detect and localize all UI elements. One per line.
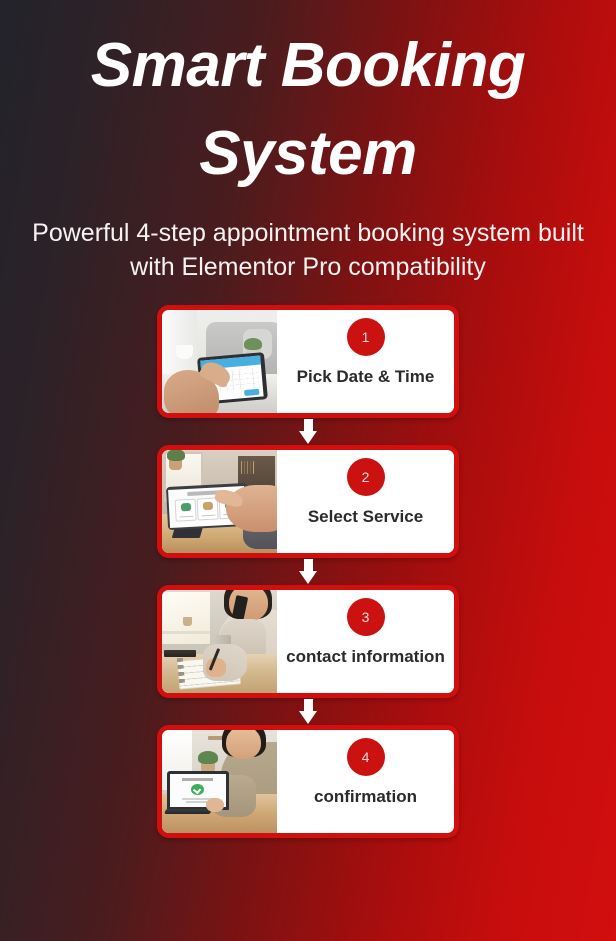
arrow-down-icon	[299, 559, 318, 584]
connector-2	[0, 558, 616, 585]
typing-hand	[206, 798, 224, 812]
arrow-down-icon	[299, 699, 318, 724]
step-body-2: 2 Select Service	[277, 450, 454, 553]
steps-flow: 1 Pick Date & Time	[0, 305, 616, 838]
step-row: 2 Select Service	[0, 445, 616, 558]
plant-leaves	[244, 338, 262, 350]
step-label-1: Pick Date & Time	[297, 367, 435, 387]
step-number-badge-4: 4	[347, 738, 385, 776]
connector-1	[0, 418, 616, 445]
plant-leaves	[198, 751, 219, 764]
step-label-4: confirmation	[314, 787, 417, 807]
step-row: 3 contact information	[0, 585, 616, 698]
step-row: 4 confirmation	[0, 725, 616, 838]
connector-3	[0, 698, 616, 725]
person-head	[226, 730, 261, 759]
step-thumbnail-4	[162, 730, 277, 833]
step-thumbnail-2	[162, 450, 277, 553]
window-sill	[162, 631, 210, 634]
page-title: Smart Booking System	[58, 22, 558, 198]
step-label-2: Select Service	[308, 507, 423, 527]
plant-leaves	[167, 450, 185, 461]
arrow-down-icon	[299, 419, 318, 444]
step-card-2[interactable]: 2 Select Service	[157, 445, 459, 558]
poster-header: Smart Booking System Powerful 4-step app…	[0, 0, 616, 284]
step-row: 1 Pick Date & Time	[0, 305, 616, 418]
calendar-confirm-button	[243, 389, 259, 396]
booking-confirmed-heading	[182, 778, 213, 781]
service-option-1	[175, 499, 197, 522]
coffee-cup	[176, 345, 193, 359]
laptop-base	[164, 809, 212, 814]
step-card-4[interactable]: 4 confirmation	[157, 725, 459, 838]
service-option-2	[197, 498, 219, 521]
step-card-1[interactable]: 1 Pick Date & Time	[157, 305, 459, 418]
step-number-badge-2: 2	[347, 458, 385, 496]
step-thumbnail-3	[162, 590, 277, 693]
plant-pot	[183, 617, 192, 626]
closed-notebook	[164, 650, 196, 657]
step-label-3: contact information	[286, 647, 445, 667]
step-thumbnail-1	[162, 310, 277, 413]
step-number-badge-3: 3	[347, 598, 385, 636]
poster-root: Smart Booking System Powerful 4-step app…	[0, 0, 616, 941]
step-body-1: 1 Pick Date & Time	[277, 310, 454, 413]
curtain	[162, 310, 197, 374]
step-body-4: 4 confirmation	[277, 730, 454, 833]
step-body-3: 3 contact information	[277, 590, 454, 693]
step-number-badge-1: 1	[347, 318, 385, 356]
step-card-3[interactable]: 3 contact information	[157, 585, 459, 698]
page-subtitle: Powerful 4-step appointment booking syst…	[8, 216, 608, 284]
